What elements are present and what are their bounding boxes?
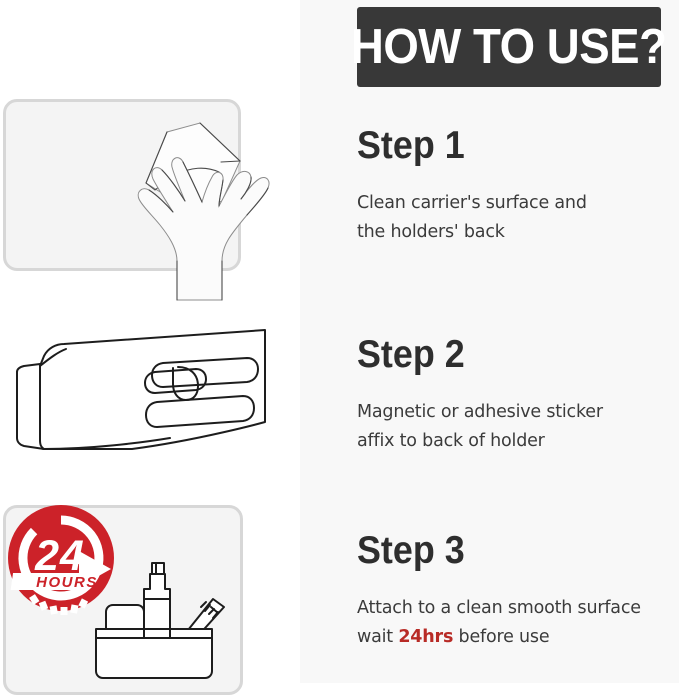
step-3-block: Step 3 Attach to a clean smooth surface … <box>357 531 679 652</box>
step-3-illustration: 24 HOURS <box>0 495 300 683</box>
filled-holder-drawing <box>96 563 224 678</box>
step-2-body-line-2: affix to back of holder <box>357 431 545 451</box>
holder-back-adhesive-drawing <box>0 318 300 488</box>
step-3-body-line-2-suffix: before use <box>453 627 549 647</box>
step-3-body-line-1: Attach to a clean smooth surface <box>357 598 641 618</box>
page-title: HOW TO USE? <box>351 23 667 72</box>
twenty-four-hours-badge: 24 HOURS <box>8 505 114 615</box>
step-2-block: Step 2 Magnetic or adhesive sticker affi… <box>357 335 679 456</box>
wait-24-hours-drawing: 24 HOURS <box>0 495 300 683</box>
hand-wiping-cloth-drawing <box>0 85 300 300</box>
step-1-illustration <box>0 85 300 300</box>
step-1-body: Clean carrier's surface and the holders'… <box>357 189 679 247</box>
step-1-body-line-1: Clean carrier's surface and <box>357 193 587 213</box>
step-2-body: Magnetic or adhesive sticker affix to ba… <box>357 398 679 456</box>
how-to-use-banner: HOW TO USE? <box>357 7 661 87</box>
badge-unit: HOURS <box>36 574 98 591</box>
step-3-body-line-2-prefix: wait <box>357 627 398 647</box>
step-1-heading: Step 1 <box>357 126 653 167</box>
step-1-body-line-2: the holders' back <box>357 222 505 242</box>
step-3-heading: Step 3 <box>357 531 653 572</box>
how-to-use-infographic: 24 HOURS HOW TO USE? Step 1 Clean carrie… <box>0 0 679 683</box>
step-1-block: Step 1 Clean carrier's surface and the h… <box>357 126 679 247</box>
wait-duration-highlight: 24hrs <box>398 627 453 647</box>
step-2-illustration <box>0 318 300 488</box>
step-2-body-line-1: Magnetic or adhesive sticker <box>357 402 603 422</box>
step-3-body: Attach to a clean smooth surface wait 24… <box>357 594 679 652</box>
step-2-heading: Step 2 <box>357 335 653 376</box>
badge-number: 24 <box>34 532 85 580</box>
